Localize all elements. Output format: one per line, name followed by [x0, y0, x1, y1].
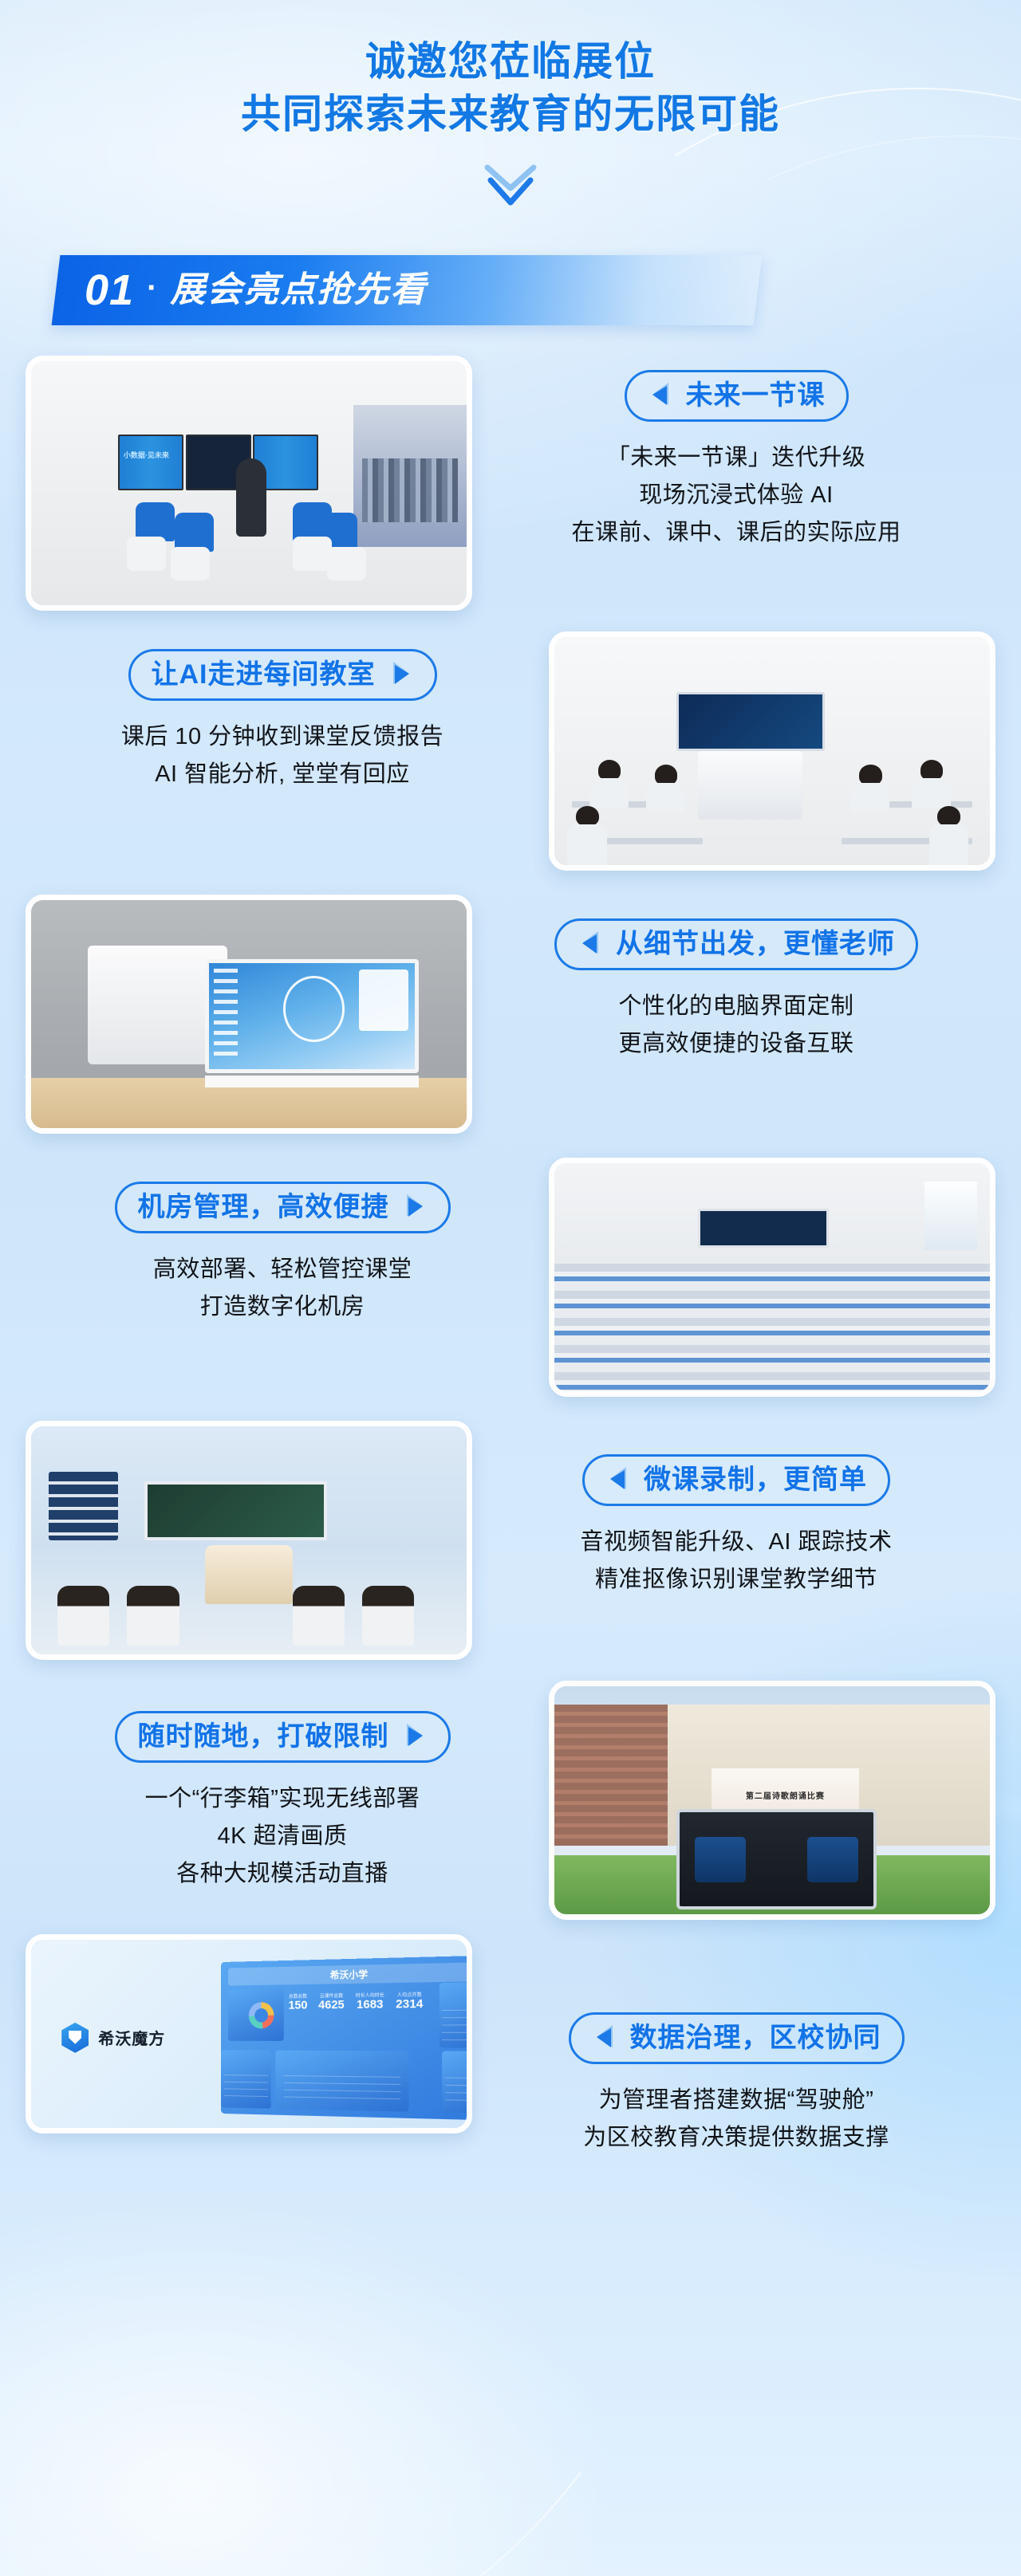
- badge-label: 机房管理，高效便捷: [138, 1192, 389, 1223]
- seewo-cube-dashboard-photo: 希沃魔方 希沃小学 总数总数 150 云课件总数 4625: [26, 1934, 472, 2134]
- desc-line: 在课前、课中、课后的实际应用: [571, 514, 901, 552]
- dashboard-title: 希沃小学: [228, 1962, 472, 1985]
- desc-line: AI 智能分析, 堂堂有回应: [121, 756, 443, 793]
- desc-line: 高效部署、轻松管控课堂: [153, 1251, 412, 1288]
- kpi-label: 总数总数: [289, 1992, 308, 1999]
- chevron-left-icon: [648, 380, 675, 411]
- badge-label: 随时随地，打破限制: [138, 1721, 389, 1752]
- desc-line: 音视频智能升级、AI 跟踪技术: [581, 1524, 893, 1561]
- kpi-label: 云课件总数: [318, 1992, 345, 1999]
- feature-description: 课后 10 分钟收到课堂反馈报告 AI 智能分析, 堂堂有回应: [121, 718, 443, 793]
- kpi-item: 云课件总数 4625: [318, 1992, 345, 2012]
- badge-anytime-anywhere[interactable]: 随时随地，打破限制: [115, 1711, 451, 1763]
- feature-row-ai-in-every-classroom: 让AI走进每间教室 课后 10 分钟收到课堂反馈报告 AI 智能分析, 堂堂有回…: [0, 631, 1021, 871]
- badge-label: 未来一节课: [686, 380, 826, 411]
- classroom-with-students-photo: [549, 631, 995, 871]
- seewo-hex-icon: [61, 2023, 89, 2053]
- hero-line-2: 共同探索未来教育的无限可能: [0, 88, 1021, 140]
- desc-line: 现场沉浸式体验 AI: [571, 477, 901, 514]
- kpi-label: 时长人均时长: [356, 1991, 384, 1999]
- feature-row-future-lesson: 小数据·见未来: [0, 356, 1021, 611]
- kpi-value: 1683: [356, 1998, 384, 2012]
- desc-line: 为管理者搭建数据“驾驶舱”: [583, 2082, 889, 2119]
- feature-row-micro-lesson-recording: 微课录制，更简单 音视频智能升级、AI 跟踪技术 精准抠像识别课堂教学细节: [0, 1421, 1021, 1660]
- badge-micro-lesson-recording[interactable]: 微课录制，更简单: [582, 1454, 890, 1506]
- badge-label: 从细节出发，更懂老师: [616, 929, 895, 960]
- badge-data-governance[interactable]: 数据治理，区校协同: [569, 2012, 905, 2064]
- dashboard-screen: 希沃小学 总数总数 150 云课件总数 4625 时长人均时长: [221, 1955, 472, 2120]
- section-number: 01: [85, 269, 134, 312]
- badge-future-lesson[interactable]: 未来一节课: [625, 370, 849, 422]
- feature-description: 个性化的电脑界面定制 更高效便捷的设备互联: [618, 988, 853, 1063]
- smart-classroom-photo: 小数据·见未来: [26, 356, 472, 611]
- chevron-left-icon: [592, 2023, 619, 2054]
- kpi-value: 4625: [318, 1999, 345, 2012]
- feature-description: 「未来一节课」迭代升级 现场沉浸式体验 AI 在课前、课中、课后的实际应用: [571, 439, 901, 552]
- chevron-right-icon: [400, 1192, 428, 1223]
- desc-line: 一个“行李箱”实现无线部署: [145, 1780, 420, 1818]
- section-banner-01: 01 · 展会亮点抢先看: [52, 255, 763, 325]
- desc-line: 课后 10 分钟收到课堂反馈报告: [121, 718, 443, 756]
- event-banner-text: 第二届诗歌朗诵比赛: [712, 1789, 860, 1801]
- desc-line: 4K 超清画质: [145, 1818, 420, 1855]
- chevron-right-icon: [387, 659, 414, 690]
- feature-description: 高效部署、轻松管控课堂 打造数字化机房: [153, 1251, 412, 1326]
- dashboard-card: [443, 2051, 472, 2114]
- badge-details-for-teachers[interactable]: 从细节出发，更懂老师: [554, 918, 918, 970]
- section-title: 展会亮点抢先看: [170, 273, 427, 308]
- badge-label: 数据治理，区校协同: [630, 2023, 881, 2054]
- desc-line: 个性化的电脑界面定制: [618, 988, 853, 1025]
- hero-line-1: 诚邀您莅临展位: [365, 39, 656, 84]
- feature-row-details-for-teachers: 从细节出发，更懂老师 个性化的电脑界面定制 更高效便捷的设备互联: [0, 895, 1021, 1134]
- desc-line: 打造数字化机房: [153, 1288, 412, 1326]
- kpi-item: 人均点开数 2314: [396, 1990, 423, 2011]
- section-separator: ·: [139, 272, 165, 309]
- dashboard-card: [228, 1988, 283, 2041]
- double-chevron-down-icon: [479, 164, 542, 209]
- chevron-left-icon: [605, 1465, 633, 1496]
- dashboard-card: [221, 2050, 271, 2109]
- dashboard-card: [276, 2050, 408, 2111]
- desc-line: 更高效便捷的设备互联: [618, 1025, 853, 1063]
- feature-row-data-governance: 希沃魔方 希沃小学 总数总数 150 云课件总数 4625: [0, 1934, 1021, 2157]
- kpi-value: 2314: [396, 1997, 423, 2011]
- kpi-label: 人均点开数: [396, 1990, 423, 1998]
- classroom-screen-caption: 小数据·见未来: [124, 450, 169, 460]
- brand-name: 希沃魔方: [98, 2026, 165, 2049]
- feature-row-anytime-anywhere: 第二届诗歌朗诵比赛 随时随地，打破限制: [0, 1681, 1021, 1920]
- feature-description: 为管理者搭建数据“驾驶舱” 为区校教育决策提供数据支撑: [583, 2082, 889, 2157]
- desc-line: 「未来一节课」迭代升级: [571, 439, 901, 477]
- feature-description: 一个“行李箱”实现无线部署 4K 超清画质 各种大规模活动直播: [145, 1780, 420, 1893]
- feature-description: 音视频智能升级、AI 跟踪技术 精准抠像识别课堂教学细节: [581, 1524, 893, 1599]
- feature-row-computer-room-management: 机房管理，高效便捷 高效部署、轻松管控课堂 打造数字化机房: [0, 1158, 1021, 1397]
- kpi-item: 时长人均时长 1683: [356, 1991, 384, 2012]
- dashboard-card: [440, 1981, 472, 2047]
- computer-lab-photo: [549, 1158, 995, 1397]
- chevron-right-icon: [400, 1721, 428, 1752]
- badge-label: 微课录制，更简单: [644, 1465, 867, 1496]
- badge-ai-in-every-classroom[interactable]: 让AI走进每间教室: [128, 649, 437, 701]
- desc-line: 精准抠像识别课堂教学细节: [581, 1561, 893, 1599]
- kpi-value: 150: [289, 1999, 308, 2012]
- seewo-cube-logo: 希沃魔方: [61, 2023, 165, 2053]
- chevron-left-icon: [578, 929, 605, 960]
- outdoor-live-broadcast-photo: 第二届诗歌朗诵比赛: [549, 1681, 995, 1920]
- desc-line: 各种大规模活动直播: [145, 1855, 420, 1893]
- recording-classroom-photo: [26, 1421, 472, 1660]
- badge-label: 让AI走进每间教室: [152, 659, 376, 690]
- badge-computer-room-management[interactable]: 机房管理，高效便捷: [115, 1182, 451, 1233]
- hero-section: 诚邀您莅临展位 共同探索未来教育的无限可能: [0, 0, 1021, 209]
- page-title: 诚邀您莅临展位 共同探索未来教育的无限可能: [0, 35, 1021, 140]
- decorative-glow-bottom: [0, 2193, 622, 2576]
- kpi-item: 总数总数 150: [289, 1992, 308, 2012]
- desc-line: 为区校教育决策提供数据支撑: [583, 2119, 889, 2157]
- all-in-one-pc-photo: [26, 895, 472, 1134]
